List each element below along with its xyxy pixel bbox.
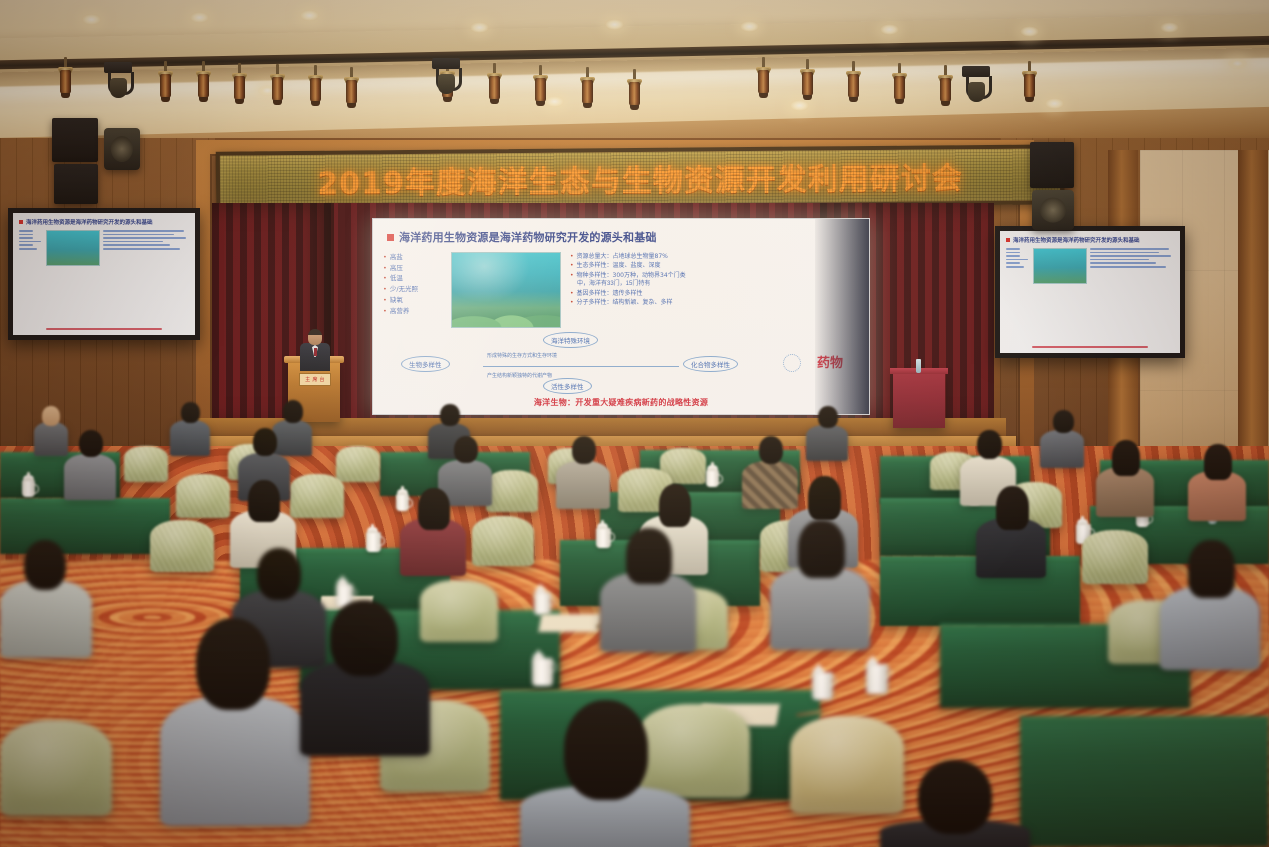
chair xyxy=(472,516,534,566)
spotlight-icon xyxy=(938,74,953,108)
teacup-icon xyxy=(22,480,35,497)
downlight-icon xyxy=(880,24,899,35)
side-monitor-left: 海洋药用生物资源是海洋药物研究开发的源头和基础 xyxy=(8,208,200,340)
event-banner-text: 2019年度海洋生态与生物资源开发利用研讨会 xyxy=(220,152,1060,203)
monitor-right-bullets xyxy=(103,230,189,266)
list-item: 高压 xyxy=(383,263,445,274)
downlight-icon xyxy=(1045,98,1064,109)
teacup-icon xyxy=(532,658,553,686)
monitor-slide-body xyxy=(19,230,189,266)
spotlight-icon xyxy=(1022,70,1037,104)
downlight-icon xyxy=(1160,22,1179,33)
speaker-tie xyxy=(314,348,317,356)
list-item xyxy=(300,600,430,750)
monitor-left-bullets xyxy=(19,230,43,266)
chair xyxy=(486,470,538,512)
spotlight-icon xyxy=(344,76,359,110)
list-item: 低温 xyxy=(383,273,445,284)
list-item xyxy=(34,406,68,454)
slide-title-bullet-icon xyxy=(387,234,394,241)
spotlight-icon xyxy=(627,78,642,112)
chair xyxy=(176,474,230,518)
list-item: 高营养 xyxy=(383,306,445,317)
screen-shadow-edge xyxy=(815,219,869,414)
moving-head-icon xyxy=(962,66,990,108)
teacup-icon xyxy=(366,532,381,552)
list-item xyxy=(400,488,466,572)
list-item xyxy=(600,528,696,646)
bottle-icon xyxy=(916,359,921,373)
downlight-icon xyxy=(1228,58,1247,69)
spotlight-icon xyxy=(270,73,285,107)
downlight-icon xyxy=(605,19,624,30)
monitor-slide-photo xyxy=(46,230,100,266)
side-monitor-right: 海洋药用生物资源是海洋药物研究开发的源头和基础 xyxy=(995,226,1185,358)
slide-title-text: 海洋药用生物资源是海洋药物研究开发的源头和基础 xyxy=(399,229,657,245)
slide-photo-coral-reef xyxy=(451,252,561,328)
list-item: 高盐 xyxy=(383,252,445,263)
diagram-link-lower-label: 产生结构新颖独特的代谢产物 xyxy=(487,372,552,379)
diagram-node-right: 化合物多样性 xyxy=(683,356,738,372)
chair xyxy=(420,580,498,642)
spotlight-icon xyxy=(58,66,73,100)
list-item xyxy=(520,700,690,847)
spotlight-icon xyxy=(892,72,907,106)
loudspeaker-icon xyxy=(54,164,98,204)
loudspeaker-icon xyxy=(104,128,140,170)
monitor-slide-title-text: 海洋药用生物资源是海洋药物研究开发的源头和基础 xyxy=(26,218,153,226)
monitor-slide-photo xyxy=(1033,248,1087,284)
monitor-slide-mirror: 海洋药用生物资源是海洋药物研究开发的源头和基础 xyxy=(1000,231,1180,353)
monitor-screen: 海洋药用生物资源是海洋药物研究开发的源头和基础 xyxy=(1000,231,1180,353)
spotlight-icon xyxy=(846,70,861,104)
spotlight-icon xyxy=(800,68,815,102)
chair xyxy=(124,446,168,482)
chair xyxy=(150,520,214,572)
downlight-icon xyxy=(740,21,759,32)
list-item xyxy=(1188,444,1246,516)
list-item xyxy=(0,540,92,652)
diagram-link-upper-label: 形成特殊的生存方式和生存环境 xyxy=(487,352,557,359)
monitor-screen: 海洋药用生物资源是海洋药物研究开发的源头和基础 xyxy=(13,213,195,335)
list-item xyxy=(806,406,848,458)
slide-title-bullet-icon xyxy=(19,220,23,224)
diagram-node-top: 海洋特殊环境 xyxy=(543,332,598,348)
conference-hall-photo: 2019年度海洋生态与生物资源开发利用研讨会 海洋药用生物资源是海洋药物研究开发… xyxy=(0,0,1269,847)
diagram-halo-icon xyxy=(783,354,801,372)
list-item xyxy=(170,402,210,454)
chair xyxy=(1082,530,1148,584)
loudspeaker-icon xyxy=(52,118,98,162)
pilaster-right xyxy=(1238,150,1268,480)
chair xyxy=(0,720,112,816)
chair xyxy=(290,474,344,518)
podium-plaque: 主 席 台 xyxy=(299,373,331,386)
ceiling xyxy=(0,0,1269,150)
speaker-at-podium xyxy=(300,329,330,369)
slide-diagram: 海洋特殊环境 生物多样性 化合物多样性 活性多样性 形成特殊的生存方式和生存环境… xyxy=(383,332,859,394)
list-item xyxy=(556,436,610,504)
spotlight-icon xyxy=(487,72,502,106)
monitor-right-bullets xyxy=(1090,248,1174,284)
downlight-icon xyxy=(1020,26,1039,37)
list-item xyxy=(880,760,1030,847)
spotlight-icon xyxy=(308,74,323,108)
monitor-slide-title: 海洋药用生物资源是海洋药物研究开发的源头和基础 xyxy=(19,218,189,226)
list-item xyxy=(976,486,1046,574)
teacup-icon xyxy=(812,672,833,700)
side-table xyxy=(893,372,945,428)
presentation-slide: 海洋药用生物资源是海洋药物研究开发的源头和基础 高盐 高压 低温 少/无光照 缺… xyxy=(373,219,869,414)
spotlight-icon xyxy=(158,70,173,104)
list-item xyxy=(1160,540,1260,664)
list-item: 缺氧 xyxy=(383,295,445,306)
downlight-icon xyxy=(82,14,101,25)
loudspeaker-icon xyxy=(1032,190,1074,230)
list-item xyxy=(64,430,116,496)
monitor-slide-mirror: 海洋药用生物资源是海洋药物研究开发的源头和基础 xyxy=(13,213,195,335)
list-item: 少/无光照 xyxy=(383,284,445,295)
podium-plaque-text: 主 席 台 xyxy=(305,376,325,383)
list-item xyxy=(160,618,310,818)
list-item xyxy=(770,520,870,644)
spotlight-icon xyxy=(232,72,247,106)
spotlight-icon xyxy=(196,70,211,104)
loudspeaker-icon xyxy=(1030,142,1074,188)
spotlight-icon xyxy=(580,76,595,110)
downlight-icon xyxy=(470,22,489,33)
diagram-node-left: 生物多样性 xyxy=(401,356,450,372)
projection-screen: 海洋药用生物资源是海洋药物研究开发的源头和基础 高盐 高压 低温 少/无光照 缺… xyxy=(372,218,870,415)
downlight-icon xyxy=(300,10,319,21)
list-item xyxy=(1096,440,1154,512)
monitor-slide-title-text: 海洋药用生物资源是海洋药物研究开发的源头和基础 xyxy=(1013,236,1140,244)
diagram-node-bottom: 活性多样性 xyxy=(543,378,592,394)
speaker-head xyxy=(308,329,322,345)
teacup-icon xyxy=(866,664,888,694)
monitor-slide-title: 海洋药用生物资源是海洋药物研究开发的源头和基础 xyxy=(1006,236,1174,244)
list-item xyxy=(1040,410,1084,464)
spotlight-icon xyxy=(756,66,771,100)
slide-title-bullet-icon xyxy=(1006,238,1010,242)
moving-head-icon xyxy=(104,62,132,104)
diagram-connector xyxy=(483,366,679,367)
moving-head-icon xyxy=(432,58,460,100)
monitor-slide-body xyxy=(1006,248,1174,284)
event-banner: 2019年度海洋生态与生物资源开发利用研讨会 xyxy=(216,144,1064,211)
slide-left-bullets: 高盐 高压 低温 少/无光照 缺氧 高营养 xyxy=(383,252,445,328)
slide-title: 海洋药用生物资源是海洋药物研究开发的源头和基础 xyxy=(387,229,859,245)
chair xyxy=(336,446,380,482)
monitor-slide-footer xyxy=(1000,346,1180,348)
monitor-slide-footer xyxy=(13,328,195,330)
slide-columns: 高盐 高压 低温 少/无光照 缺氧 高营养 资源总量大：占地球总生物量87% 生… xyxy=(383,252,859,328)
spotlight-icon xyxy=(533,74,548,108)
downlight-icon xyxy=(190,12,209,23)
table-row xyxy=(1020,716,1269,847)
monitor-left-bullets xyxy=(1006,248,1030,284)
paper-handout xyxy=(538,614,601,632)
teacup-icon xyxy=(534,592,551,615)
